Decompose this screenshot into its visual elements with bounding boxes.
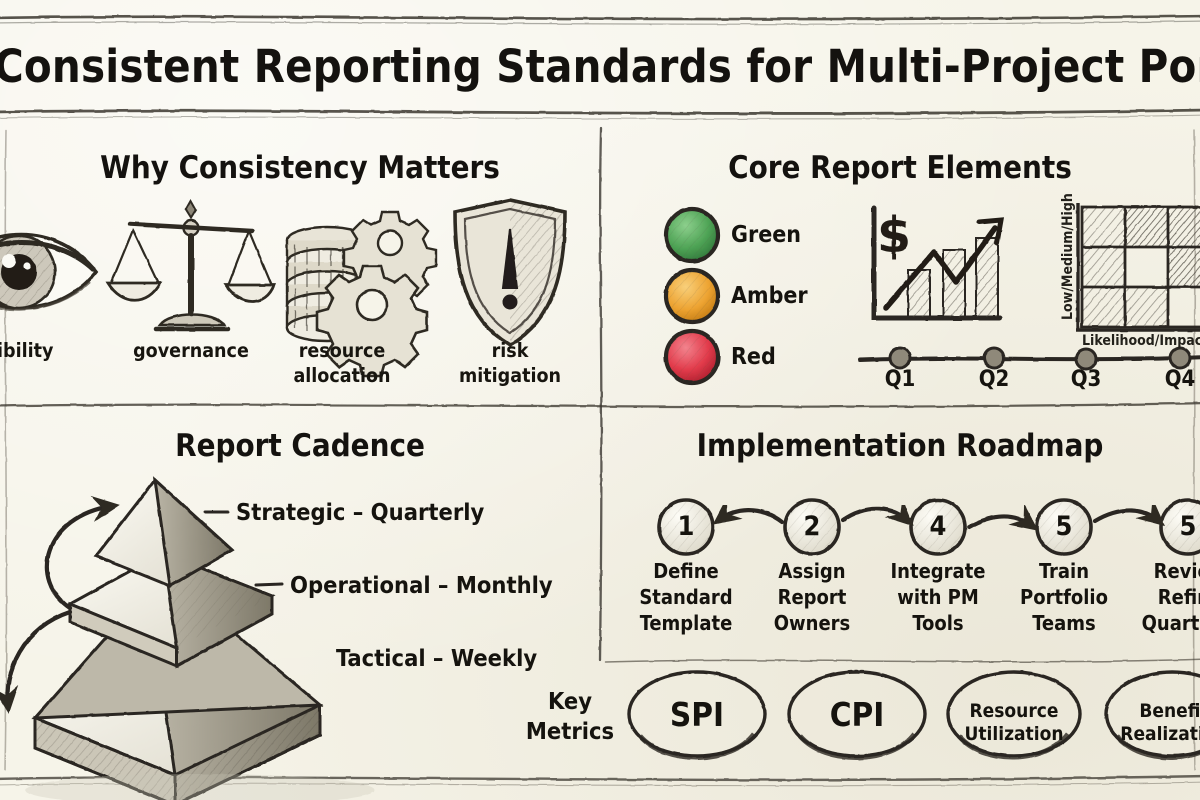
step4-line1: Train — [1039, 559, 1089, 583]
section-heading-report-cadence: Report Cadence — [0, 428, 600, 464]
section-heading-why-consistency: Why Consistency Matters — [0, 150, 600, 186]
cadence-label-strategic: Strategic – Quarterly — [236, 498, 484, 526]
step3-line1: Integrate — [890, 559, 985, 583]
step2-line3: Owners — [774, 611, 851, 635]
timeline-label-q1: Q1 — [870, 367, 930, 392]
step5-line1: Review — [1154, 559, 1200, 583]
step1-line1: Define — [653, 559, 719, 583]
step3-line2: with PM — [897, 585, 979, 609]
risk-line1: risk — [492, 339, 529, 362]
step5-line2: Refine — [1158, 585, 1200, 609]
key-metrics-line2: Metrics — [526, 717, 614, 745]
metric-label-spi[interactable]: SPI — [637, 698, 757, 731]
risk-matrix-y-axis-label: Low/Medium/High — [1060, 300, 1076, 320]
roadmap-step-label-5: Review Refine Quarterly — [1131, 558, 1200, 636]
cadence-label-tactical: Tactical – Weekly — [336, 644, 537, 672]
step5-line3: Quarterly — [1142, 611, 1200, 635]
icon-label-resource-allocation: resource allocation — [262, 338, 422, 388]
icon-label-visibility: sibility — [0, 338, 80, 363]
step3-line3: Tools — [912, 611, 963, 635]
resource-line2: allocation — [293, 364, 390, 387]
step1-line3: Template — [640, 611, 733, 635]
page-title: Consistent Reporting Standards for Multi… — [0, 40, 1200, 93]
roadmap-step-label-2: Assign Report Owners — [753, 558, 871, 636]
resource-line1: resource — [299, 339, 386, 362]
roadmap-step-label-4: Train Portfolio Teams — [1005, 558, 1123, 636]
metric-label-cpi[interactable]: CPI — [797, 698, 917, 731]
infographic-canvas: $ — [0, 0, 1200, 800]
roadmap-step-label-3: Integrate with PM Tools — [879, 558, 997, 636]
resource-metric-line2: Utilization — [964, 723, 1063, 745]
section-heading-implementation: Implementation Roadmap — [600, 428, 1200, 464]
key-metrics-line1: Key — [548, 687, 592, 715]
paper-background — [0, 0, 1200, 800]
benefit-metric-line1: Benefit — [1139, 700, 1200, 722]
roadmap-step-label-1: Define Standard Template — [627, 558, 745, 636]
roadmap-step-number-5: 5 — [1160, 499, 1200, 555]
resource-metric-line1: Resource — [969, 700, 1058, 722]
roadmap-step-number-1: 1 — [658, 499, 714, 555]
risk-line2: mitigation — [459, 364, 561, 387]
step2-line2: Report — [778, 585, 847, 609]
timeline-label-q3: Q3 — [1056, 367, 1116, 392]
metric-label-benefit-realization[interactable]: Benefit Realization — [1112, 700, 1200, 746]
section-heading-core-elements: Core Report Elements — [600, 150, 1200, 186]
step2-line1: Assign — [778, 559, 845, 583]
step4-line2: Portfolio — [1020, 585, 1108, 609]
step1-line2: Standard — [639, 585, 732, 609]
icon-label-governance: governance — [116, 338, 266, 363]
timeline-label-q2: Q2 — [964, 367, 1024, 392]
timeline-label-q4: Q4 — [1150, 367, 1200, 392]
rag-label-green: Green — [731, 222, 801, 248]
rag-label-red: Red — [731, 344, 776, 370]
risk-matrix-x-axis-label: Likelihood/Impact — [1082, 333, 1200, 349]
roadmap-step-number-4: 5 — [1036, 499, 1092, 555]
roadmap-step-number-2: 2 — [784, 499, 840, 555]
cadence-label-operational: Operational – Monthly — [290, 571, 553, 599]
rag-label-amber: Amber — [731, 283, 808, 309]
key-metrics-label: Key Metrics — [520, 686, 620, 746]
benefit-metric-line2: Realization — [1120, 723, 1200, 745]
icon-label-risk-mitigation: risk mitigation — [430, 338, 590, 388]
step4-line3: Teams — [1032, 611, 1095, 635]
roadmap-step-number-3: 4 — [910, 499, 966, 555]
metric-label-resource-utilization[interactable]: Resource Utilization — [952, 700, 1076, 746]
